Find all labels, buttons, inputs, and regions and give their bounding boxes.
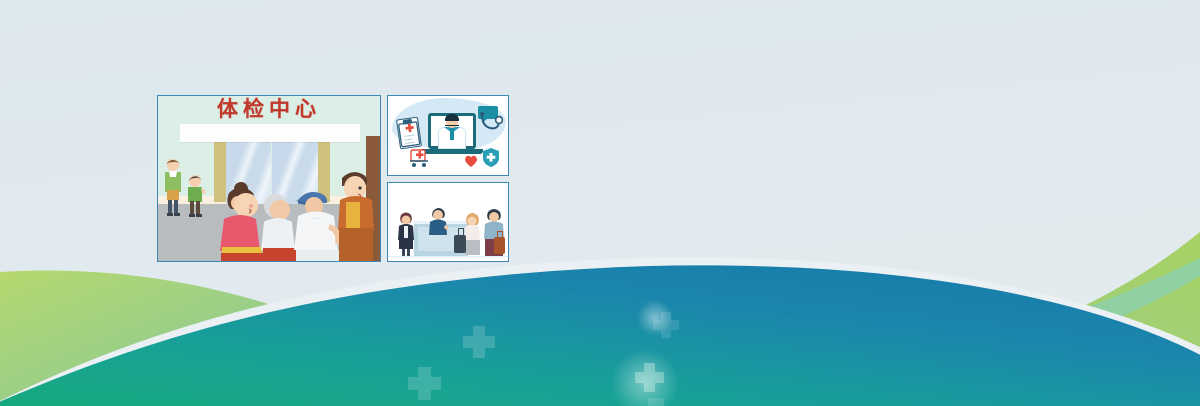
figure-receptionist-behind-counter: [428, 207, 448, 235]
figure-traveller-light-top: [464, 211, 481, 255]
suitcase-dark: [454, 235, 466, 253]
storefront-signage-text: 体检中心: [158, 99, 380, 120]
collage-right-column: [387, 95, 509, 262]
medicine-cart-icon: [408, 146, 430, 168]
banner-canvas: 体检中心: [0, 0, 1200, 406]
image-collage[interactable]: 体检中心: [157, 95, 509, 262]
stethoscope-icon: [479, 112, 503, 138]
reception-floor-line: [388, 256, 508, 257]
doctor-tie: [450, 128, 454, 140]
figure-staff-yellow-uniform: [336, 168, 376, 262]
figure-child-green-shirt: [161, 158, 185, 216]
suitcase-brown: [494, 237, 505, 254]
heart-icon: [464, 154, 478, 168]
doctor-glasses-icon: [445, 120, 459, 126]
panel-health-exam-center-storefront[interactable]: 体检中心: [157, 95, 381, 262]
storefront-blank-banner: [180, 124, 360, 142]
panel-telemedicine-online-doctor[interactable]: [387, 95, 509, 176]
figure-child-waving: [185, 174, 207, 218]
clipboard-icon: [396, 117, 422, 150]
figure-staff-dark-suit: [398, 211, 414, 257]
shield-cross-icon: [483, 148, 499, 167]
panel-reception-desk-checkin[interactable]: [387, 182, 509, 263]
